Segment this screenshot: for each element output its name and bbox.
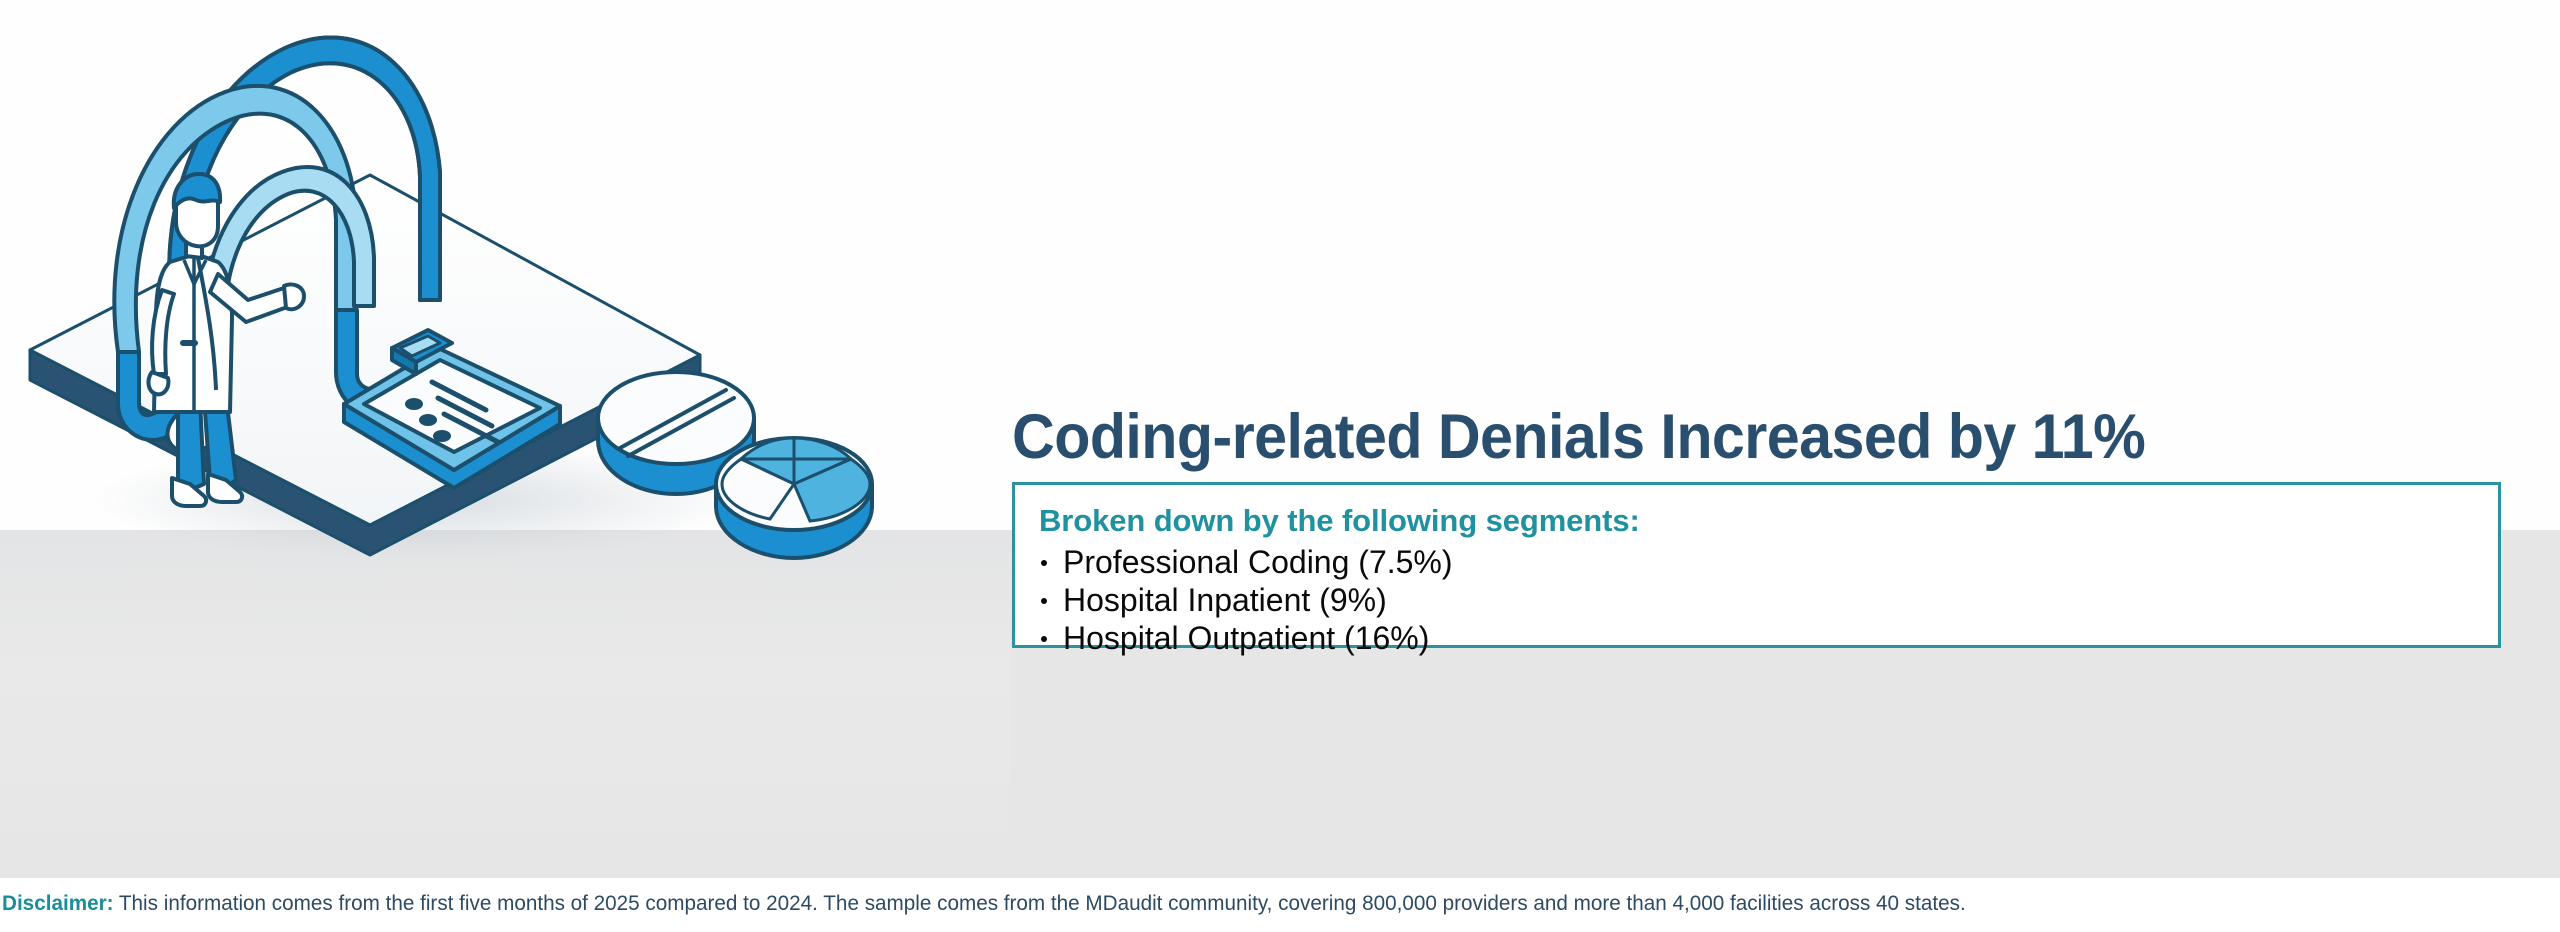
disclaimer-text: This information comes from the first fi…	[114, 892, 1966, 915]
disclaimer: Disclaimer: This information comes from …	[2, 891, 2520, 917]
segments-list: Professional Coding (7.5%) Hospital Inpa…	[1037, 543, 1453, 657]
bullet-icon	[1041, 560, 1047, 566]
medical-illustration	[0, 0, 1010, 560]
page-title: Coding-related Denials Increased by 11%	[1012, 402, 2422, 472]
infographic-canvas: Coding-related Denials Increased by 11% …	[0, 0, 2560, 932]
segment-label: Hospital Outpatient (16%)	[1063, 620, 1429, 656]
capsule-pill	[716, 438, 872, 558]
bullet-icon	[1041, 598, 1047, 604]
list-item: Professional Coding (7.5%)	[1037, 543, 1453, 581]
segment-label: Hospital Inpatient (9%)	[1063, 582, 1387, 618]
list-item: Hospital Outpatient (16%)	[1037, 619, 1453, 657]
list-item: Hospital Inpatient (9%)	[1037, 581, 1453, 619]
segments-breakdown-box: Broken down by the following segments: P…	[1012, 482, 2501, 648]
segments-heading: Broken down by the following segments:	[1039, 503, 1640, 539]
disclaimer-label: Disclaimer:	[2, 892, 114, 915]
content-column: Coding-related Denials Increased by 11% …	[1012, 0, 2512, 878]
bullet-icon	[1041, 636, 1047, 642]
segment-label: Professional Coding (7.5%)	[1063, 544, 1453, 580]
background-band-gray-left	[0, 530, 1010, 878]
